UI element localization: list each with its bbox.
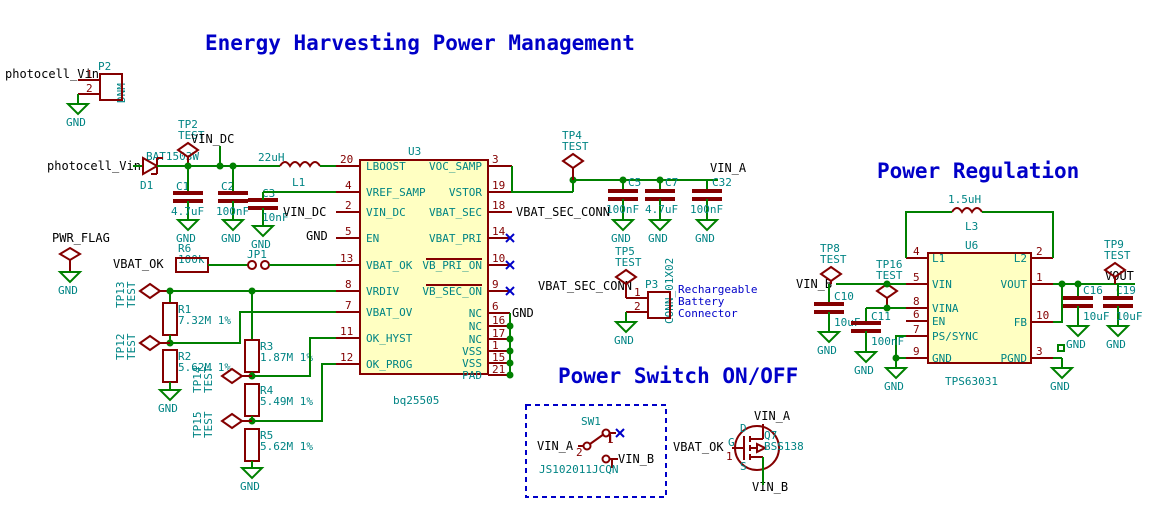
sw1-ref: SW1 [581, 415, 601, 428]
u3-pin-num: 3 [492, 153, 499, 166]
gnd-label: GND [854, 364, 874, 377]
u3-pin-num: 5 [345, 225, 352, 238]
gnd-label: GND [614, 334, 634, 347]
tp13-value: TEST [125, 281, 138, 308]
gnd-label: GND [884, 380, 904, 393]
c7-ref: C7 [665, 176, 678, 189]
u6-pin-num: 5 [913, 271, 920, 284]
junction [507, 336, 514, 343]
u3-pin-name: VBAT_PRI [429, 232, 482, 245]
p3-pin-1-num: 1 [634, 286, 641, 299]
component-q7[interactable]: VIN_A VBAT_OK VIN_B G D S 1 Q7 BSS138 [673, 409, 804, 494]
net-label-vbat-sec-conn-p3: VBAT_SEC_CONN [538, 279, 632, 293]
net-label-vin-a-cap: VIN_A [710, 161, 747, 175]
c10-ref: C10 [834, 290, 854, 303]
tp16-value: TEST [876, 269, 903, 282]
net-label-q7-vin-a: VIN_A [754, 409, 791, 423]
component-c2[interactable]: C2 100nF GND [216, 166, 249, 245]
r4-value: 5.49M 1% [260, 395, 313, 408]
u3-pin-name: VBAT_SEC [429, 206, 482, 219]
u3-pin-num: 6 [492, 300, 499, 313]
l3-ref: L3 [965, 220, 978, 233]
u3-pin-name: VB_PRI_ON [422, 259, 482, 272]
component-c5[interactable]: C5 100nF GND [606, 176, 641, 245]
component-r5[interactable]: R5 5.62M 1% GND [240, 429, 313, 493]
u3-pin-name: OK_HYST [366, 332, 413, 345]
sw1-pin-2-num: 2 [576, 446, 583, 459]
ic-u6[interactable]: U6 TPS63031 4 L1 5 VIN 8 VINA 6 EN 7 PS/… [884, 239, 1072, 393]
gnd-label: GND [1050, 380, 1070, 393]
c19-value: 10uF [1116, 310, 1143, 323]
u6-pin-num: 8 [913, 295, 920, 308]
net-label-photocell-vin-input: photocell_Vin [47, 159, 141, 173]
net-label-vout-reg: VOUT [1105, 269, 1134, 283]
u3-pin-num: 18 [492, 199, 505, 212]
tp15-value: TEST [202, 411, 215, 438]
u6-pin-num: 9 [913, 345, 920, 358]
net-label-vin-dc-top: VIN_DC [191, 132, 234, 146]
q7-value: BSS138 [764, 440, 804, 453]
u3-pin-name: VBAT_OV [366, 306, 413, 319]
u3-pin-num: 20 [340, 153, 353, 166]
component-c7[interactable]: C7 4.7uF GND [645, 176, 678, 245]
u3-pin-num: 13 [340, 252, 353, 265]
component-c1[interactable]: C1 4.7uF GND [171, 166, 204, 245]
q7-source-label: S [740, 460, 747, 473]
p3-note-line-3: Connector [678, 307, 738, 320]
u6-pin-num: 4 [913, 245, 920, 258]
component-r4[interactable]: R4 5.49M 1% [245, 384, 313, 421]
gnd-label: GND [158, 402, 178, 415]
u3-pin-name: VIN_DC [366, 206, 406, 219]
u3-pin-name: LBOOST [366, 160, 406, 173]
component-p2[interactable]: P2 DNM 1 2 photocell_Vin GND [5, 60, 128, 129]
q7-drain-label: D [740, 422, 747, 435]
u6-pin-num: 1 [1036, 271, 1043, 284]
u6-pin-name: EN [932, 315, 945, 328]
p3-ref: P3 [645, 278, 658, 291]
u6-pin-num: 7 [913, 323, 920, 336]
junction [230, 163, 237, 170]
u6-pin-num: 6 [913, 308, 920, 321]
gnd-label: GND [240, 480, 260, 493]
net-label-photocell-vin-conn: photocell_Vin [5, 67, 99, 81]
u6-pin-name: PGND [1001, 352, 1028, 365]
junction [507, 323, 514, 330]
regulator-output-network: VOUT TP9 TEST C16 10uF GND C19 10uF GN [1053, 238, 1143, 351]
power-regulation-title: Power Regulation [877, 159, 1079, 183]
junction [217, 163, 224, 170]
gnd-label: GND [66, 116, 86, 129]
u6-pin-name: GND [932, 352, 952, 365]
u6-ref: U6 [965, 239, 978, 252]
u6-pin-name: VOUT [1001, 278, 1028, 291]
u6-pin-name: VIN [932, 278, 952, 291]
test-point-tp4[interactable]: TP4 TEST [562, 129, 589, 180]
u3-pin-name: NC [469, 320, 482, 333]
test-point-tp15[interactable]: TP15 TEST [191, 411, 252, 438]
d1-value: BAT1503W [146, 150, 199, 163]
u3-pin-name: VRDIV [366, 285, 399, 298]
component-l1[interactable]: 22uH L1 [258, 151, 320, 189]
u6-pin-name: PS/SYNC [932, 330, 978, 343]
junction [1075, 281, 1082, 288]
tp12-value: TEST [125, 333, 138, 360]
p2-pin-2-num: 2 [86, 82, 93, 95]
net-label-q7-vbat-ok: VBAT_OK [673, 440, 724, 454]
u3-pin-num: 2 [345, 199, 352, 212]
component-c32[interactable]: C32 100nF GND [690, 176, 732, 245]
jp1-ref: JP1 [247, 248, 267, 261]
u3-pin-num: 21 [492, 363, 505, 376]
component-jp1[interactable]: JP1 [247, 248, 269, 269]
p3-pin-2-num: 2 [634, 300, 641, 313]
u3-pin-name: OK_PROG [366, 358, 412, 371]
net-label-gnd-nc: GND [512, 306, 534, 320]
resistor-divider-network: TP13 TEST R1 7.32M 1% TP12 TEST [114, 281, 336, 493]
main-title: Energy Harvesting Power Management [205, 31, 635, 55]
sw1-pin-1-num: 1 [607, 433, 614, 446]
u6-pin-name: L2 [1014, 252, 1027, 265]
c5-value: 100nF [606, 203, 639, 216]
l3-value: 1.5uH [948, 193, 981, 206]
c32-ref: C32 [712, 176, 732, 189]
component-sw1[interactable]: SW1 VIN_A 2 1 VIN_B JS102011JCQN [537, 415, 654, 476]
no-connect-icon [616, 429, 624, 437]
junction [507, 372, 514, 379]
power-flag-symbol[interactable]: PWR_FLAG GND [52, 231, 110, 297]
schematic-sheet: Energy Harvesting Power Management Power… [0, 0, 1167, 517]
u3-pin-name: VREF_SAMP [366, 186, 426, 199]
u3-pin-num: 16 [492, 314, 505, 327]
gnd-label: GND [648, 232, 668, 245]
u3-pin-num: 9 [492, 278, 499, 291]
u3-pin-name: VOC_SAMP [429, 160, 482, 173]
net-label-q7-vin-b: VIN_B [752, 480, 788, 494]
net-label-sw-vin-b: VIN_B [618, 452, 654, 466]
net-label-vbat-ok: VBAT_OK [113, 257, 164, 271]
l1-ref: L1 [292, 176, 305, 189]
u3-pin-num: 12 [340, 351, 353, 364]
power-switch-group: SW1 VIN_A 2 1 VIN_B JS102011JCQN [526, 405, 666, 497]
component-r3[interactable]: R3 1.87M 1% [245, 291, 313, 376]
gnd-label: GND [817, 344, 837, 357]
tp14-value: TEST [202, 366, 215, 393]
tp8-value: TEST [820, 253, 847, 266]
gnd-label: GND [1066, 338, 1086, 351]
q7-gate-label: G [728, 436, 735, 449]
c2-value: 100nF [216, 205, 249, 218]
component-c16[interactable]: C16 10uF GND [1063, 284, 1110, 351]
junction [620, 177, 627, 184]
gnd-label: GND [58, 284, 78, 297]
r3-value: 1.87M 1% [260, 351, 313, 364]
c11-value: 100nF [871, 335, 904, 348]
d1-ref: D1 [140, 179, 153, 192]
q7-pin-1-num: 1 [726, 450, 733, 463]
c16-ref: C16 [1083, 284, 1103, 297]
junction [657, 177, 664, 184]
component-l3[interactable]: 1.5uH L3 [906, 193, 1053, 258]
junction [507, 348, 514, 355]
gnd-symbol [68, 104, 88, 114]
test-point-tp12[interactable]: TP12 TEST [114, 333, 170, 360]
test-point-tp13[interactable]: TP13 TEST [114, 281, 170, 308]
net-label-gnd-en: GND [306, 229, 328, 243]
u6-pin-name: L1 [932, 252, 945, 265]
c32-value: 100nF [690, 203, 723, 216]
component-r1[interactable]: R1 7.32M 1% [163, 291, 231, 343]
gnd-label: GND [1106, 338, 1126, 351]
u6-pin-name: FB [1014, 316, 1028, 329]
component-r6[interactable]: R6 100k [176, 242, 208, 272]
p2-ref: P2 [98, 60, 111, 73]
net-label-vin-dc-pin: VIN_DC [283, 205, 326, 219]
gnd-label: GND [221, 232, 241, 245]
power-switch-title: Power Switch ON/OFF [558, 364, 798, 388]
u6-pin-num: 3 [1036, 345, 1043, 358]
u3-pin-name: VBAT_OK [366, 259, 413, 272]
u3-pin-name: PAD [462, 369, 482, 382]
u3-value: bq25505 [393, 394, 439, 407]
r1-value: 7.32M 1% [178, 314, 231, 327]
net-label-sw-vin-a: VIN_A [537, 439, 574, 453]
u6-pin-name: VINA [932, 302, 959, 315]
u3-ref: U3 [408, 145, 421, 158]
gnd-label: GND [611, 232, 631, 245]
u3-pin-num: 14 [492, 225, 506, 238]
c1-value: 4.7uF [171, 205, 204, 218]
tp5-value: TEST [615, 256, 642, 269]
u3-pin-num: 8 [345, 278, 352, 291]
u3-pin-name: NC [469, 307, 482, 320]
gnd-label: GND [695, 232, 715, 245]
junction [507, 360, 514, 367]
pwr-flag-label: PWR_FLAG [52, 231, 110, 245]
l1-value: 22uH [258, 151, 285, 164]
c16-value: 10uF [1083, 310, 1110, 323]
regulator-input-network: VIN_B TP8 TEST C10 10uF GND TP16 TEST [796, 242, 906, 377]
u3-pin-num: 4 [345, 179, 352, 192]
u6-pin-num: 2 [1036, 245, 1043, 258]
vstor-rail: TP4 TEST VIN_A C5 100nF GND C7 4.7uF [512, 129, 747, 245]
component-c10[interactable]: C10 10uF GND [814, 284, 861, 357]
u3-pin-name: VSTOR [449, 186, 482, 199]
vbat-ok-network: VBAT_OK R6 100k JP1 [113, 242, 336, 272]
sw1-value: JS102011JCQN [539, 463, 618, 476]
c7-value: 4.7uF [645, 203, 678, 216]
u6-pin-num: 10 [1036, 309, 1049, 322]
u3-pin-name: VB_SEC_ON [422, 285, 482, 298]
component-p3[interactable]: VBAT_SEC_CONN P3 CONN_01X02 1 2 TP5 TEST… [538, 245, 757, 347]
net-label-vbat-sec-conn-pin: VBAT_SEC_CONN [516, 205, 610, 219]
u6-value: TPS63031 [945, 375, 998, 388]
u3-pin-num: 11 [340, 325, 353, 338]
u3-pin-num: 7 [345, 299, 352, 312]
tp9-value: TEST [1104, 249, 1131, 262]
u3-pin-num: 19 [492, 179, 505, 192]
c5-ref: C5 [628, 176, 641, 189]
r5-value: 5.62M 1% [260, 440, 313, 453]
junction [884, 281, 891, 288]
u3-pin-num: 10 [492, 252, 505, 265]
tp4-value: TEST [562, 140, 589, 153]
r6-value: 100k [178, 253, 205, 266]
u3-pin-name: EN [366, 232, 379, 245]
